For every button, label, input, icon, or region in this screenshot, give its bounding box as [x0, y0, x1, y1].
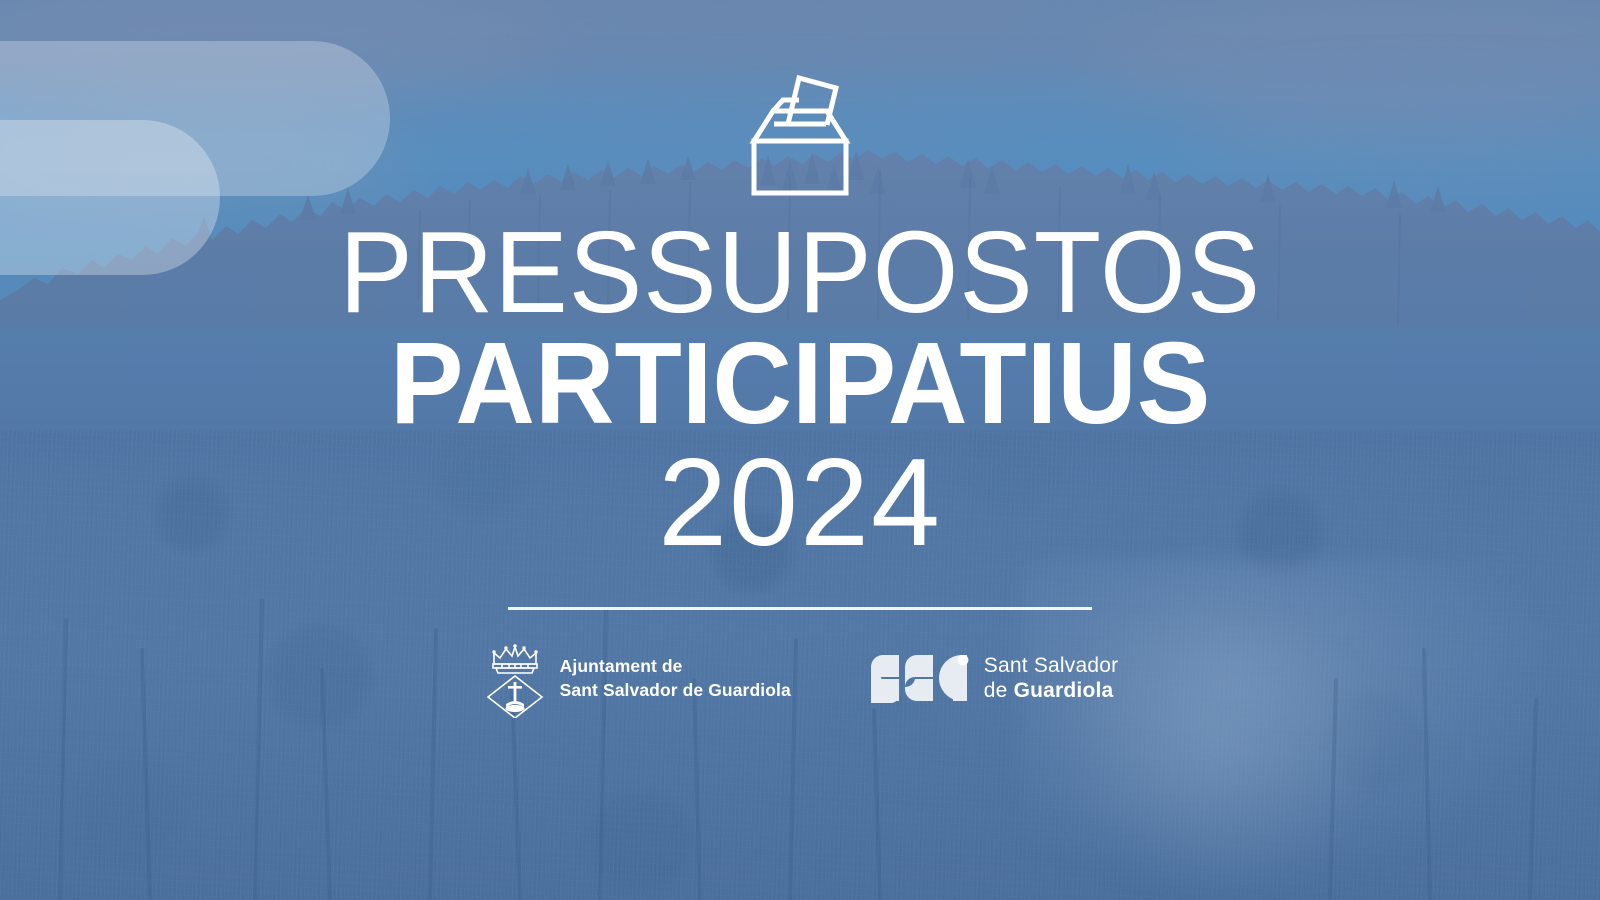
ssg-line-1: Sant Salvador	[984, 654, 1119, 678]
title-line-pressupostos: PRESSUPOSTOS	[339, 214, 1261, 330]
ssg-line-2: de Guardiola	[984, 679, 1119, 703]
title-line-year: 2024	[315, 438, 1285, 568]
ballot-box-icon	[741, 62, 859, 198]
crown-and-shield-crest-icon	[482, 640, 548, 718]
poster-canvas: PRESSUPOSTOS PARTICIPATIUS 2024	[0, 0, 1600, 900]
ssg-logo: Sant Salvador de Guardiola	[869, 654, 1119, 703]
ssg-line-2-de: de	[984, 679, 1014, 702]
ssg-logo-text: Sant Salvador de Guardiola	[984, 654, 1119, 703]
ssg-monogram-icon	[869, 655, 971, 703]
logo-row: Ajuntament de Sant Salvador de Guardiola	[482, 640, 1119, 718]
page-title: PRESSUPOSTOS PARTICIPATIUS 2024	[315, 214, 1285, 569]
ajuntament-logo-text: Ajuntament de Sant Salvador de Guardiola	[560, 655, 791, 701]
ssg-line-2-guardiola: Guardiola	[1014, 679, 1114, 702]
ajuntament-logo: Ajuntament de Sant Salvador de Guardiola	[482, 640, 791, 718]
horizontal-divider	[508, 607, 1092, 610]
ajuntament-line-1: Ajuntament de	[560, 655, 791, 678]
ajuntament-line-2: Sant Salvador de Guardiola	[560, 679, 791, 702]
title-line-participatius: PARTICIPATIUS	[339, 324, 1261, 442]
poster-content: PRESSUPOSTOS PARTICIPATIUS 2024	[0, 0, 1600, 900]
